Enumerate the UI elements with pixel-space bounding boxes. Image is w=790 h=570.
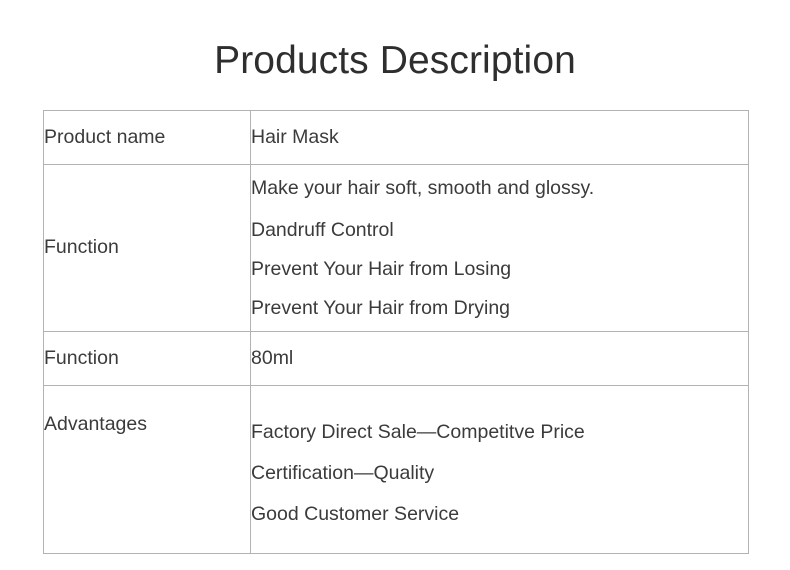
row-value-volume: 80ml: [251, 347, 293, 369]
table-row-advantages: Advantages Factory Direct Sale—Competitv…: [44, 386, 749, 554]
list-item: Dandruff Control: [251, 211, 748, 250]
table-row-product-name: Product name Hair Mask: [44, 111, 749, 165]
row-value-product-name: Hair Mask: [251, 126, 339, 148]
product-specification-table: Product name Hair Mask Function Make you…: [43, 110, 749, 554]
row-value-cell: Factory Direct Sale—Competitve Price Cer…: [251, 386, 749, 554]
list-item: Certification—Quality: [251, 453, 748, 494]
row-label-product-name: Product name: [44, 126, 165, 148]
row-label-cell: Product name: [44, 111, 251, 165]
list-item: Make your hair soft, smooth and glossy.: [251, 169, 748, 211]
row-label-cell: Advantages: [44, 386, 251, 554]
list-item: Prevent Your Hair from Drying: [251, 289, 748, 328]
row-label-advantages: Advantages: [44, 413, 147, 435]
row-label-volume: Function: [44, 347, 119, 369]
row-value-cell: Hair Mask: [251, 111, 749, 165]
table-row-volume: Function 80ml: [44, 332, 749, 386]
list-item: Good Customer Service: [251, 494, 748, 535]
advantages-list: Factory Direct Sale—Competitve Price Cer…: [251, 412, 748, 535]
page-title: Products Description: [0, 36, 790, 86]
row-value-cell: 80ml: [251, 332, 749, 386]
list-item: Factory Direct Sale—Competitve Price: [251, 412, 748, 453]
function-list: Make your hair soft, smooth and glossy. …: [251, 169, 748, 328]
product-description-page: Products Description Product name Hair M…: [0, 0, 790, 570]
row-label-cell: Function: [44, 332, 251, 386]
row-label-cell: Function: [44, 165, 251, 332]
table-row-function: Function Make your hair soft, smooth and…: [44, 165, 749, 332]
list-item: Prevent Your Hair from Losing: [251, 250, 748, 289]
row-label-function: Function: [44, 236, 119, 258]
row-value-cell: Make your hair soft, smooth and glossy. …: [251, 165, 749, 332]
